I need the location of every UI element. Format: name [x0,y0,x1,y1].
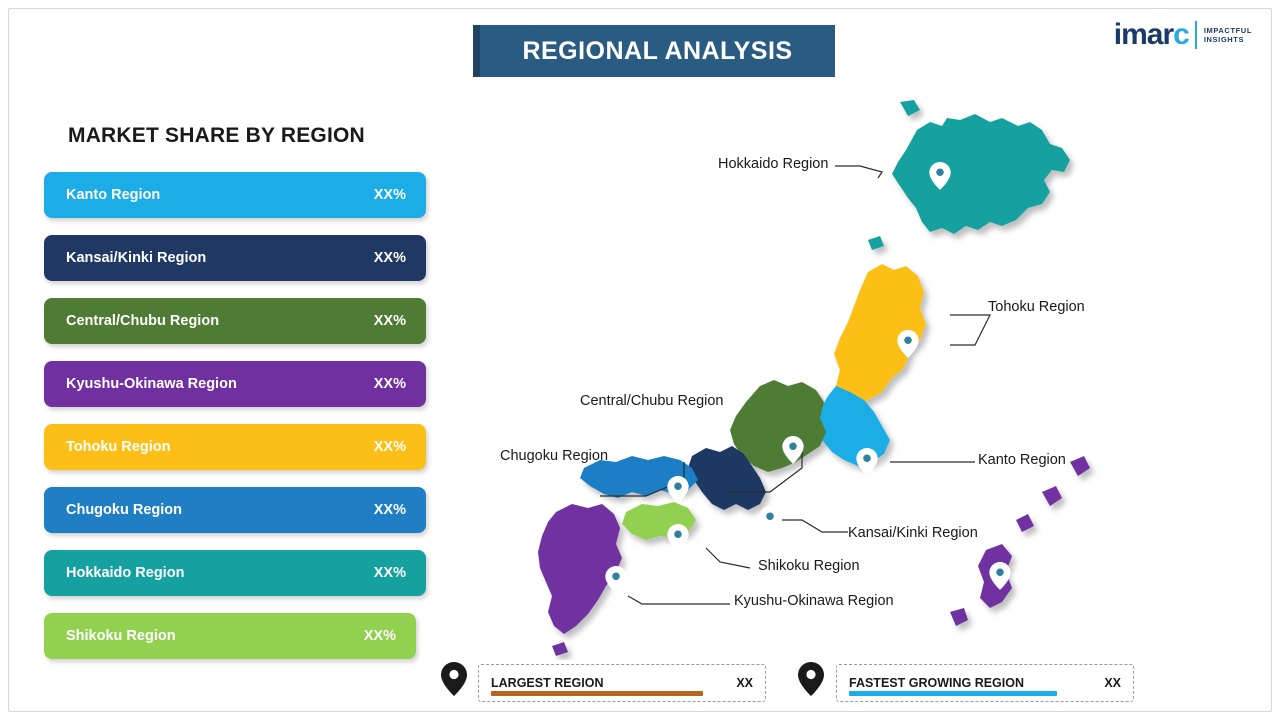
fastest-region-label: FASTEST GROWING REGION [849,676,1024,690]
market-share-row[interactable]: Shikoku RegionXX% [44,613,416,659]
pin-kansai-kinki-icon [759,506,780,534]
logo-tagline-line2: INSIGHTS [1204,35,1252,44]
logo-tagline-line1: IMPACTFUL [1204,26,1252,35]
fastest-region-legend: FASTEST GROWING REGION XX [836,664,1134,702]
region-kyushu-islet [552,642,568,656]
market-share-row[interactable]: Tohoku RegionXX% [44,424,426,470]
callout-kansai-kinki: Kansai/Kinki Region [848,525,978,541]
market-share-row-label: Kanto Region [66,187,160,203]
callout-kanto: Kanto Region [978,452,1066,468]
market-share-row[interactable]: Kansai/Kinki RegionXX% [44,235,426,281]
market-share-row-value: XX% [374,502,406,518]
imarc-logo: imarc IMPACTFUL INSIGHTS [1114,18,1252,52]
pin-chugoku-icon [667,476,688,504]
market-share-row[interactable]: Kanto RegionXX% [44,172,426,218]
market-share-row-label: Shikoku Region [66,628,176,644]
market-share-row-label: Kyushu-Okinawa Region [66,376,237,392]
japan-map-svg [430,100,1260,660]
market-share-list: Kanto RegionXX%Kansai/Kinki RegionXX%Cen… [44,172,434,676]
region-okinawa-islet1 [1070,456,1090,476]
market-share-row[interactable]: Chugoku RegionXX% [44,487,426,533]
callout-central-chubu: Central/Chubu Region [580,393,723,409]
logo-tagline: IMPACTFUL INSIGHTS [1204,26,1252,45]
market-share-row[interactable]: Kyushu-Okinawa RegionXX% [44,361,426,407]
logo-wordmark: imarc [1114,18,1189,52]
japan-map: Hokkaido Region Tohoku Region Central/Ch… [430,100,1260,660]
callout-shikoku: Shikoku Region [758,558,860,574]
market-share-row-value: XX% [374,250,406,266]
region-hokkaido-islet [900,100,920,116]
region-hokkaido [892,114,1070,234]
largest-region-underline [491,691,703,696]
pin-kyushu-icon [605,566,626,594]
region-okinawa-islet3 [1016,514,1034,532]
callout-hokkaido: Hokkaido Region [718,156,828,172]
market-share-row-value: XX% [374,376,406,392]
callout-kyushu-okinawa: Kyushu-Okinawa Region [734,593,894,609]
region-okinawa-islet4 [950,608,968,626]
fastest-region-pin-icon [798,662,824,696]
page-title-banner: REGIONAL ANALYSIS [473,25,835,77]
callout-chugoku: Chugoku Region [500,448,608,464]
pin-shikoku-icon [667,524,688,552]
largest-region-legend: LARGEST REGION XX [478,664,766,702]
market-share-row[interactable]: Hokkaido RegionXX% [44,550,426,596]
market-share-row-value: XX% [364,628,396,644]
page-title: REGIONAL ANALYSIS [522,37,792,66]
region-kanto [816,386,890,466]
largest-region-label: LARGEST REGION [491,676,604,690]
largest-region-pin-icon [441,662,467,696]
market-share-row-value: XX% [374,565,406,581]
market-share-row-value: XX% [374,439,406,455]
logo-divider [1195,21,1197,49]
market-share-row-label: Hokkaido Region [66,565,184,581]
market-share-row-label: Tohoku Region [66,439,170,455]
panel-title: MARKET SHARE BY REGION [68,124,365,148]
pin-kanto-icon [856,448,877,476]
market-share-row-value: XX% [374,313,406,329]
region-hokkaido-islet2 [868,236,884,250]
fastest-region-value: XX [1104,676,1121,690]
market-share-row-label: Kansai/Kinki Region [66,250,206,266]
market-share-row[interactable]: Central/Chubu RegionXX% [44,298,426,344]
market-share-row-label: Chugoku Region [66,502,182,518]
market-share-row-value: XX% [374,187,406,203]
market-share-row-label: Central/Chubu Region [66,313,219,329]
callout-tohoku: Tohoku Region [988,299,1085,315]
largest-region-value: XX [736,676,753,690]
region-okinawa-islet2 [1042,486,1062,506]
fastest-region-underline [849,691,1057,696]
